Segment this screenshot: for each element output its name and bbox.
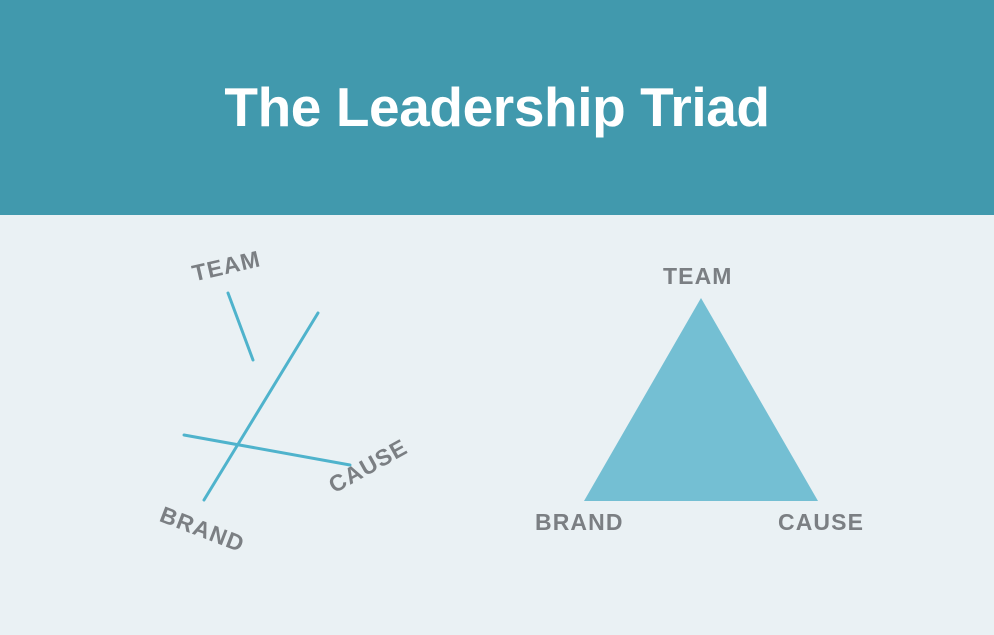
page-title: The Leadership Triad (0, 0, 994, 215)
scattered-lines-graphic (40, 215, 480, 635)
diagram-area: TEAM BRAND CAUSE TEAM BRAND CAUSE (0, 215, 994, 635)
slide-canvas: The Leadership Triad TEAM BRAND CAUSE TE… (0, 0, 994, 635)
cause-line-segment (184, 435, 350, 465)
aligned-triangle-diagram: TEAM BRAND CAUSE (480, 215, 980, 635)
scattered-lines-diagram: TEAM BRAND CAUSE (40, 215, 480, 635)
triangle-shape (584, 298, 818, 501)
triangle-label-cause: CAUSE (778, 511, 864, 534)
team-line-segment (228, 293, 253, 360)
brand-line-segment (204, 313, 318, 500)
triangle-label-brand: BRAND (535, 511, 624, 534)
triangle-label-team: TEAM (663, 265, 733, 288)
